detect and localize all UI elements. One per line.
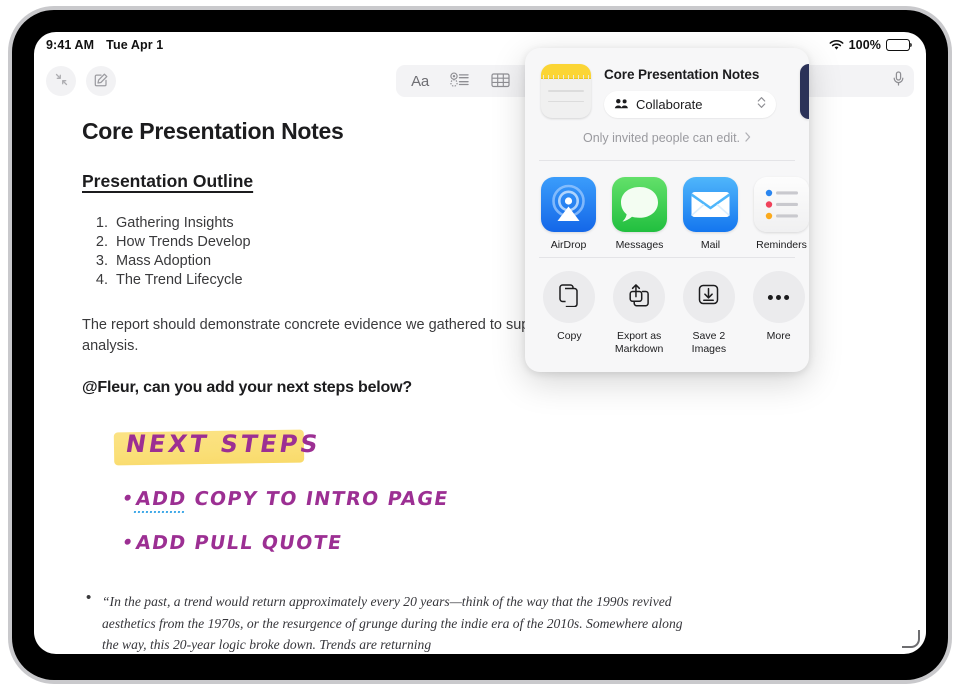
permission-text: Only invited people can edit. [583,131,740,145]
export-up-arrow-icon [628,283,651,312]
notes-app-icon [541,64,591,118]
toolbar-left-group [46,66,116,96]
handwriting-item-prefix: ADD [134,488,188,513]
handwriting-block[interactable]: NEXT STEPS ADD COPY TO INTRO PAGE ADD PU… [82,425,880,565]
device-frame: 9:41 AM Tue Apr 1 100% [8,6,952,684]
share-action-copy[interactable]: Copy [539,271,600,356]
handwriting-item-rest: COPY TO INTRO PAGE [185,488,451,510]
share-app-mail[interactable]: Mail [683,177,738,251]
share-sheet-popover: Core Presentation Notes Collaborate [525,48,809,372]
checklist-button[interactable] [442,68,478,94]
battery-full-icon [886,39,910,51]
chevron-up-down-icon [757,96,766,114]
share-app-label: Messages [612,239,667,251]
collapse-arrows-button[interactable] [46,66,76,96]
handwriting-item-rest: ADD PULL QUOTE [134,532,344,554]
share-action-label: More [748,330,809,343]
text-format-button[interactable]: Aa [402,68,438,94]
messages-icon [612,177,667,232]
permission-row[interactable]: Only invited people can edit. [525,118,809,160]
share-app-label: Mail [683,239,738,251]
reminders-icon [754,177,809,232]
handwriting-list: ADD COPY TO INTRO PAGE ADD PULL QUOTE [114,477,880,565]
device-screen: 9:41 AM Tue Apr 1 100% [34,32,926,654]
status-time: 9:41 AM [46,38,94,52]
share-actions-row: Copy Export as Markdown [525,258,809,372]
table-button[interactable] [482,68,518,94]
download-icon [697,283,720,311]
share-action-export-markdown[interactable]: Export as Markdown [609,271,670,356]
text-format-label: Aa [411,73,429,90]
ellipsis-icon [767,288,790,306]
share-sheet-title: Core Presentation Notes [604,67,793,82]
share-action-more[interactable]: More [748,271,809,356]
compose-icon [93,72,109,91]
airdrop-icon [541,177,596,232]
checklist-icon [450,72,470,90]
collaborate-label: Collaborate [636,97,750,112]
compose-button[interactable] [86,66,116,96]
handwriting-list-item: ADD PULL QUOTE [133,521,884,565]
share-action-label: Export as Markdown [609,330,670,356]
share-app-label: AirDrop [541,239,596,251]
collapse-arrows-icon [54,72,69,90]
share-app-airdrop[interactable]: AirDrop [541,177,596,251]
chevron-right-icon [745,129,751,147]
collaborate-dropdown[interactable]: Collaborate [604,91,776,118]
copy-icon [558,283,581,312]
status-bar-left: 9:41 AM Tue Apr 1 [46,38,163,52]
mail-icon [683,177,738,232]
share-action-label: Save 2 Images [679,330,740,356]
handwriting-list-item: ADD COPY TO INTRO PAGE [133,477,884,521]
status-bar-right: 100% [829,38,910,52]
quote-block: “In the past, a trend would return appro… [82,591,692,654]
share-apps-row: AirDrop Messages Mail [525,161,809,257]
share-action-save-images[interactable]: Save 2 Images [679,271,740,356]
mention-line: @Fleur, can you add your next steps belo… [82,379,880,397]
share-sheet-header: Core Presentation Notes Collaborate [525,48,809,118]
device-bezel: 9:41 AM Tue Apr 1 100% [12,10,948,680]
quote-text: “In the past, a trend would return appro… [102,594,683,652]
wifi-icon [829,40,844,51]
share-app-messages[interactable]: Messages [612,177,667,251]
resize-handle-icon[interactable] [902,630,920,648]
share-app-label: Reminders [754,239,809,251]
microphone-icon[interactable] [892,71,905,91]
share-action-label: Copy [539,330,600,343]
status-date: Tue Apr 1 [106,38,163,52]
people-icon [614,96,629,114]
table-icon [491,72,510,91]
handwriting-heading: NEXT STEPS [123,425,883,461]
share-app-reminders[interactable]: Reminders [754,177,809,251]
battery-percent-label: 100% [849,38,881,52]
